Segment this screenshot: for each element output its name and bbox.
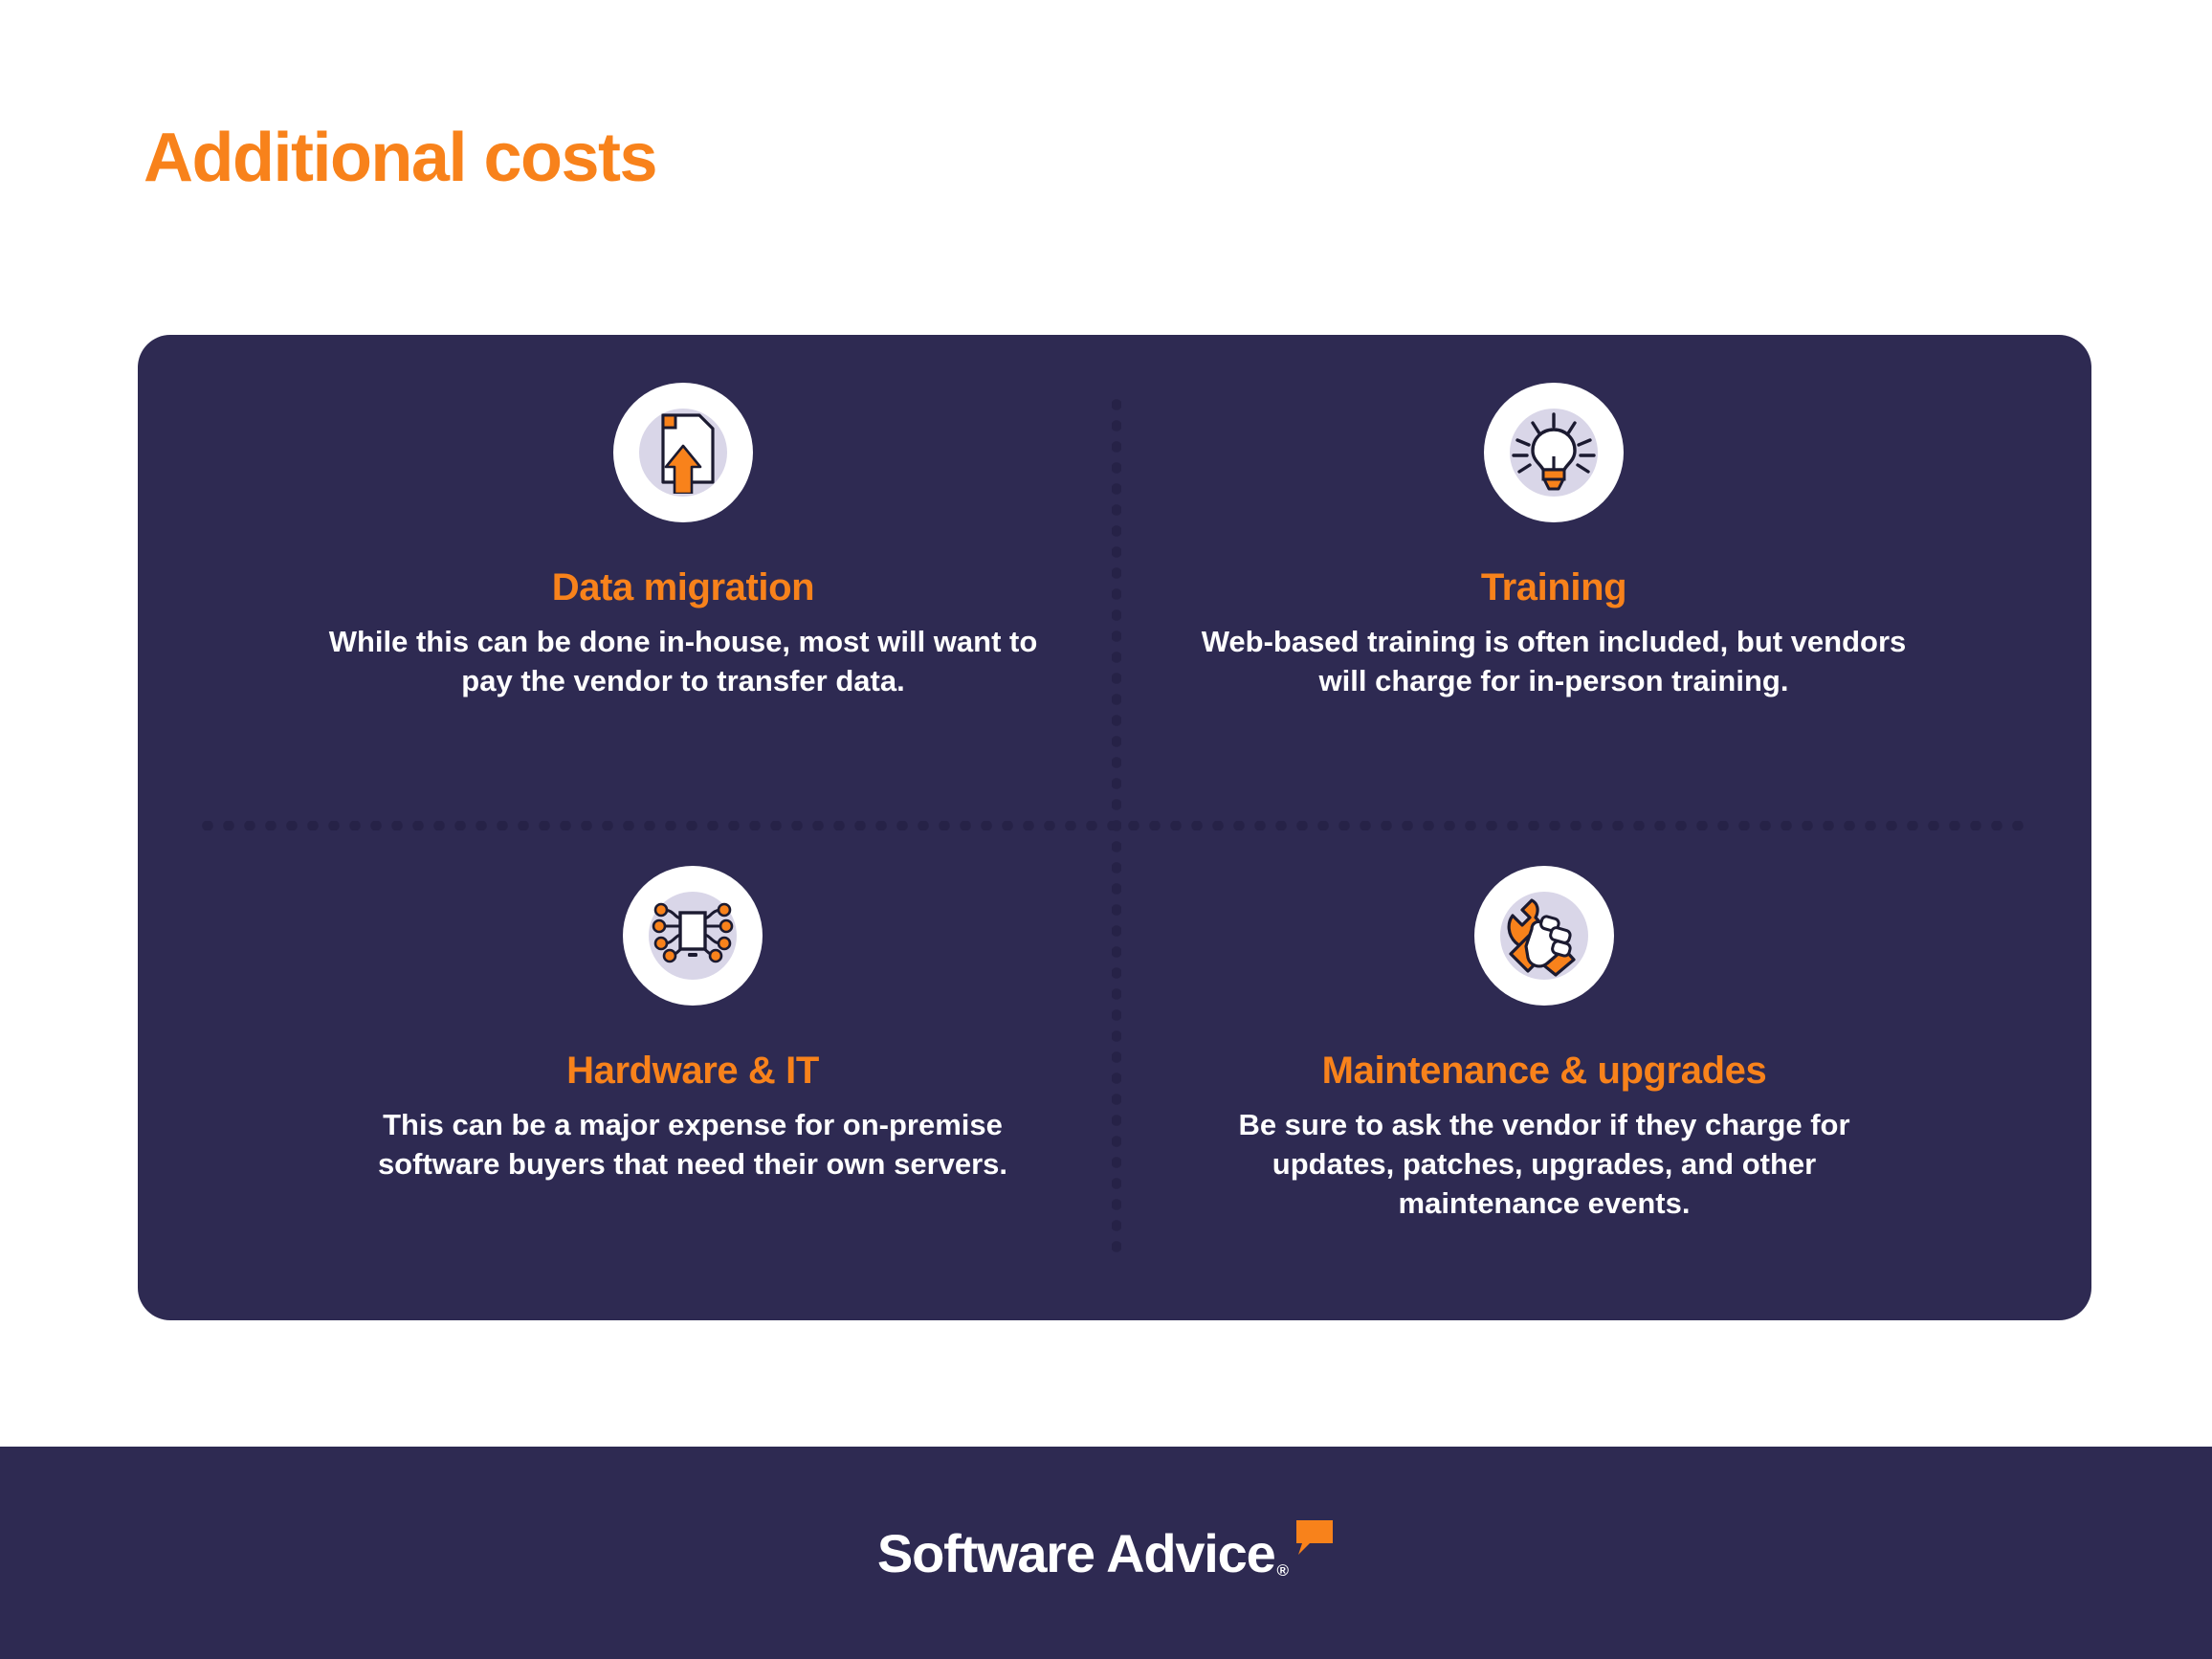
- wrench-hand-icon: [1474, 866, 1614, 1006]
- logo-wordmark: Software Advice: [877, 1522, 1275, 1584]
- card-heading: Maintenance & upgrades: [1322, 1050, 1767, 1093]
- card-heading: Data migration: [552, 566, 814, 609]
- microchip-icon: [623, 866, 763, 1006]
- content-card: Data migration While this can be done in…: [138, 335, 2091, 1320]
- registered-trademark-mark: ®: [1277, 1561, 1290, 1581]
- footer-bar: Software Advice ®: [0, 1447, 2212, 1659]
- microchip-glyph: [649, 897, 737, 974]
- lightbulb-glyph: [1512, 412, 1596, 493]
- vertical-dotted-divider: [1112, 394, 1121, 1261]
- software-advice-logo: Software Advice ®: [877, 1522, 1335, 1584]
- infographic-page: Additional costs Data migration While th…: [0, 0, 2212, 1659]
- card-item-hardware-it: Hardware & IT This can be a major expens…: [315, 866, 1071, 1184]
- speech-bubble-icon: [1294, 1518, 1335, 1561]
- card-heading: Hardware & IT: [566, 1050, 819, 1093]
- card-body-text: While this can be done in-house, most wi…: [320, 623, 1047, 701]
- card-item-data-migration: Data migration While this can be done in…: [305, 383, 1061, 701]
- card-body-text: This can be a major expense for on-premi…: [329, 1106, 1056, 1184]
- page-title: Additional costs: [144, 122, 656, 195]
- lightbulb-icon: [1484, 383, 1624, 522]
- document-upload-glyph: [646, 411, 720, 494]
- card-body-text: Web-based training is often included, bu…: [1190, 623, 1917, 701]
- document-upload-icon: [613, 383, 753, 522]
- wrench-hand-glyph: [1503, 895, 1585, 977]
- card-body-text: Be sure to ask the vendor if they charge…: [1181, 1106, 1908, 1224]
- card-heading: Training: [1481, 566, 1626, 609]
- card-item-training: Training Web-based training is often inc…: [1176, 383, 1932, 701]
- card-item-maintenance-upgrades: Maintenance & upgrades Be sure to ask th…: [1166, 866, 1922, 1224]
